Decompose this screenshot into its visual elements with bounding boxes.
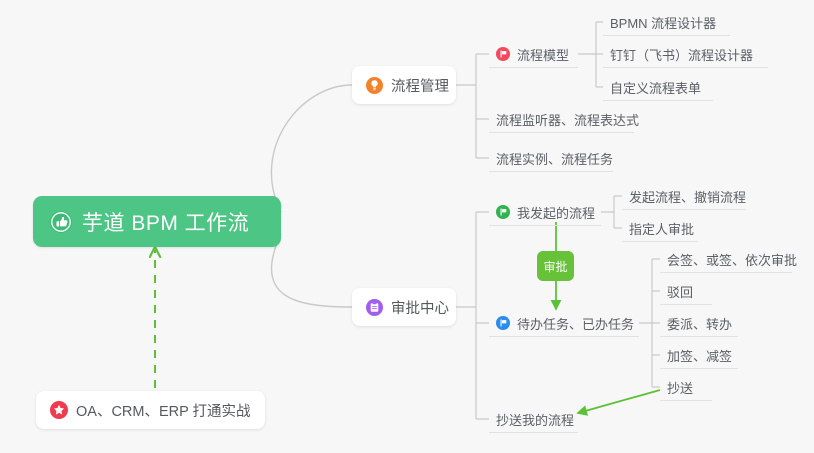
topic-node-todo-done-task[interactable]: 待办任务、已办任务 (489, 310, 639, 337)
flag-icon (496, 316, 510, 330)
wire-root-to-approval-center (271, 234, 352, 307)
leaf-label-custom-process-form: 自定义流程表单 (610, 78, 701, 97)
clipboard-icon (366, 299, 383, 316)
leaf-label-delegate-transfer: 委派、转办 (667, 314, 732, 333)
leaf-label-reject: 驳回 (667, 282, 693, 301)
leaf-label-add-remove-sign: 加签、减签 (667, 346, 732, 365)
leaf-label-assignee-approval: 指定人审批 (629, 219, 694, 238)
wire-root-to-process-management (271, 85, 352, 212)
topic-label-process-model: 流程模型 (517, 45, 569, 64)
thumbs-up-icon (49, 210, 73, 234)
branch-node-approval-center[interactable]: 审批中心 (352, 288, 456, 326)
wire-cc-arrow (578, 390, 660, 413)
leaf-node-assignee-approval[interactable]: 指定人审批 (622, 215, 698, 242)
branch-label-approval-center: 审批中心 (391, 297, 449, 318)
lightbulb-icon (366, 77, 383, 94)
integration-practice-label: OA、CRM、ERP 打通实战 (76, 400, 251, 421)
leaf-node-custom-process-form[interactable]: 自定义流程表单 (603, 74, 713, 101)
topic-label-todo-done-task: 待办任务、已办任务 (517, 314, 634, 333)
leaf-node-reject[interactable]: 驳回 (660, 278, 712, 305)
leaf-label-dingtalk-feishu-designer: 钉钉（飞书）流程设计器 (610, 45, 753, 64)
mindmap-canvas: 芋道 BPM 工作流 流程管理 流程模型 BPMN 流程设计器 钉钉（飞书 (0, 0, 814, 453)
topic-node-process-model[interactable]: 流程模型 (489, 41, 578, 68)
leaf-node-process-instance-task[interactable]: 流程实例、流程任务 (489, 145, 613, 172)
leaf-label-cc-to-me-process: 抄送我的流程 (496, 410, 574, 429)
leaf-node-carbon-copy[interactable]: 抄送 (660, 374, 712, 401)
leaf-node-add-remove-sign[interactable]: 加签、减签 (660, 342, 738, 369)
star-icon (50, 401, 68, 419)
root-label: 芋道 BPM 工作流 (82, 207, 249, 237)
leaf-node-start-cancel-process[interactable]: 发起流程、撤销流程 (622, 183, 746, 210)
leaf-label-bpmn-designer: BPMN 流程设计器 (610, 13, 716, 32)
approval-badge[interactable]: 审批 (537, 251, 574, 281)
flag-icon (496, 205, 510, 219)
leaf-node-cc-to-me-process[interactable]: 抄送我的流程 (489, 406, 578, 433)
topic-node-my-initiated-process[interactable]: 我发起的流程 (489, 199, 601, 226)
leaf-label-start-cancel-process: 发起流程、撤销流程 (629, 187, 746, 206)
leaf-node-countersign-or-sequential[interactable]: 会签、或签、依次审批 (660, 246, 792, 273)
topic-label-my-initiated-process: 我发起的流程 (517, 203, 595, 222)
leaf-node-bpmn-designer[interactable]: BPMN 流程设计器 (603, 9, 730, 36)
leaf-node-process-listener-expression[interactable]: 流程监听器、流程表达式 (489, 106, 634, 133)
flag-icon (496, 47, 510, 61)
leaf-label-carbon-copy: 抄送 (667, 378, 693, 397)
branch-node-process-management[interactable]: 流程管理 (352, 66, 456, 104)
approval-badge-label: 审批 (543, 258, 567, 275)
integration-practice-node[interactable]: OA、CRM、ERP 打通实战 (36, 391, 265, 429)
leaf-label-countersign-or-sequential: 会签、或签、依次审批 (667, 250, 797, 269)
branch-label-process-management: 流程管理 (391, 75, 449, 96)
root-node[interactable]: 芋道 BPM 工作流 (33, 196, 281, 247)
leaf-node-delegate-transfer[interactable]: 委派、转办 (660, 310, 738, 337)
leaf-node-dingtalk-feishu-designer[interactable]: 钉钉（飞书）流程设计器 (603, 41, 768, 68)
leaf-label-process-instance-task: 流程实例、流程任务 (496, 149, 613, 168)
leaf-label-process-listener-expression: 流程监听器、流程表达式 (496, 110, 639, 129)
